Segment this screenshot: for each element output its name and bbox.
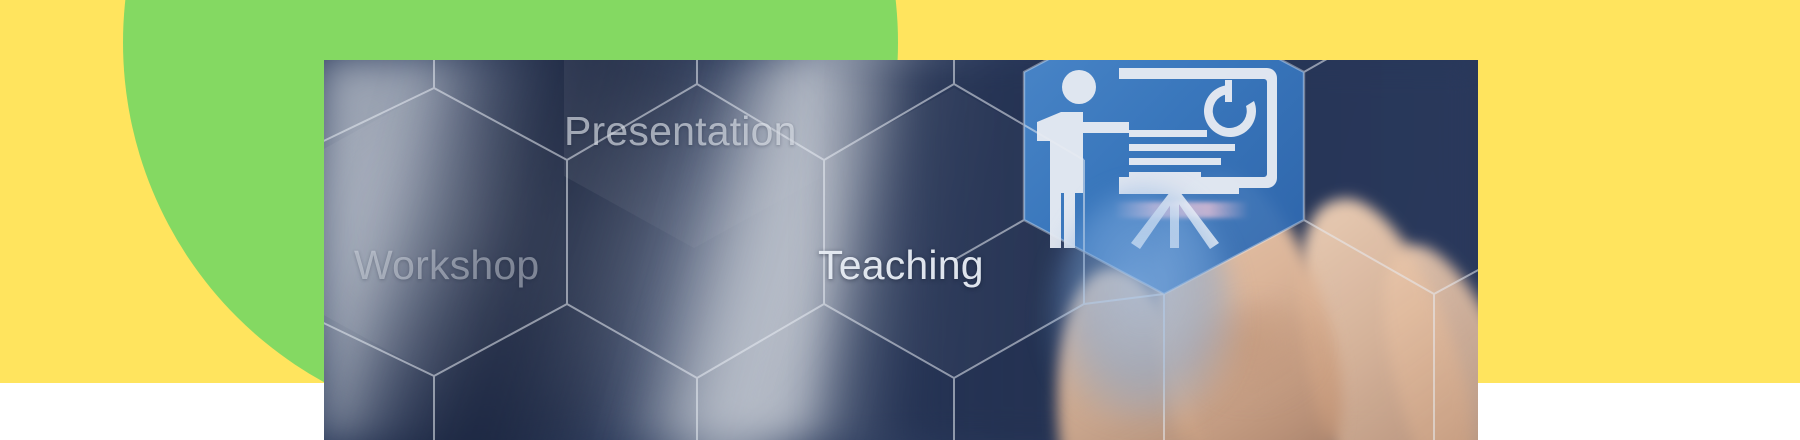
icon-text-line-1 [1129, 144, 1235, 151]
hex-workshop-fill[interactable] [324, 88, 564, 376]
icon-text-line-0 [1129, 130, 1207, 137]
hex-label-teaching[interactable]: Teaching [818, 242, 984, 289]
hex-label-presentation[interactable]: Presentation [564, 108, 797, 155]
screenshot-canvas: Workshop Presentation Teaching [0, 0, 1800, 440]
hero-banner-image: Workshop Presentation Teaching [324, 60, 1478, 440]
hex-label-workshop[interactable]: Workshop [354, 242, 539, 289]
icon-person-head [1062, 70, 1096, 104]
icon-tripod-center [1170, 190, 1179, 248]
icon-pie-slice [1225, 80, 1232, 102]
icon-text-line-3 [1129, 172, 1201, 179]
icon-text-line-2 [1129, 158, 1221, 165]
